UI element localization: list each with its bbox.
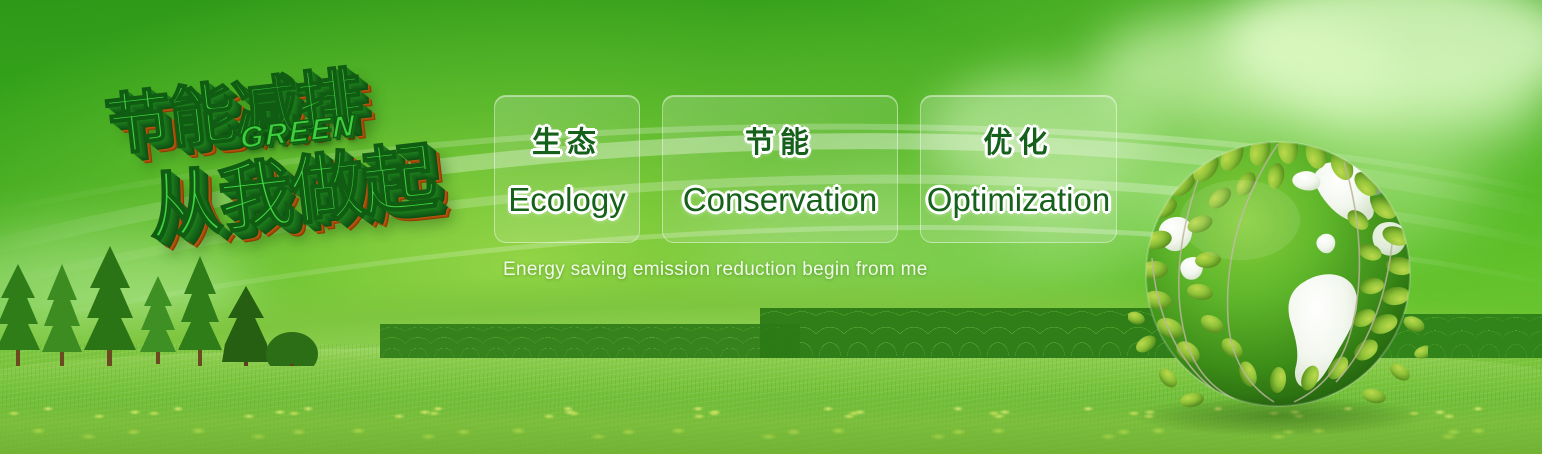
feature-card-conservation[interactable]: 节能 Conservation — [662, 95, 898, 243]
leafy-green-earth-globe — [1128, 128, 1428, 428]
feature-card-cn-label: 生态 — [532, 119, 602, 161]
globe-ground-shadow — [1088, 390, 1472, 442]
feature-card-group: 生态 Ecology 节能 Conservation 优化 Optimizati… — [494, 95, 1117, 243]
feature-card-en-label: Conservation — [683, 181, 877, 219]
feature-card-optimization[interactable]: 优化 Optimization — [920, 95, 1117, 243]
globe-graphic — [1128, 128, 1428, 428]
cloud-icon — [1222, 0, 1542, 120]
feature-card-en-label: Ecology — [508, 181, 625, 219]
feature-card-ecology[interactable]: 生态 Ecology — [494, 95, 640, 243]
cloud-icon — [1092, 10, 1392, 130]
feature-card-cn-label: 优化 — [983, 119, 1053, 161]
feature-card-cn-label: 节能 — [745, 119, 815, 161]
feature-card-en-label: Optimization — [927, 181, 1110, 219]
pine-tree-cluster — [0, 246, 330, 366]
eco-hero-banner: 节能减排 从我做起 GREEN 生态 Ecology 节能 Conservati… — [0, 0, 1542, 454]
